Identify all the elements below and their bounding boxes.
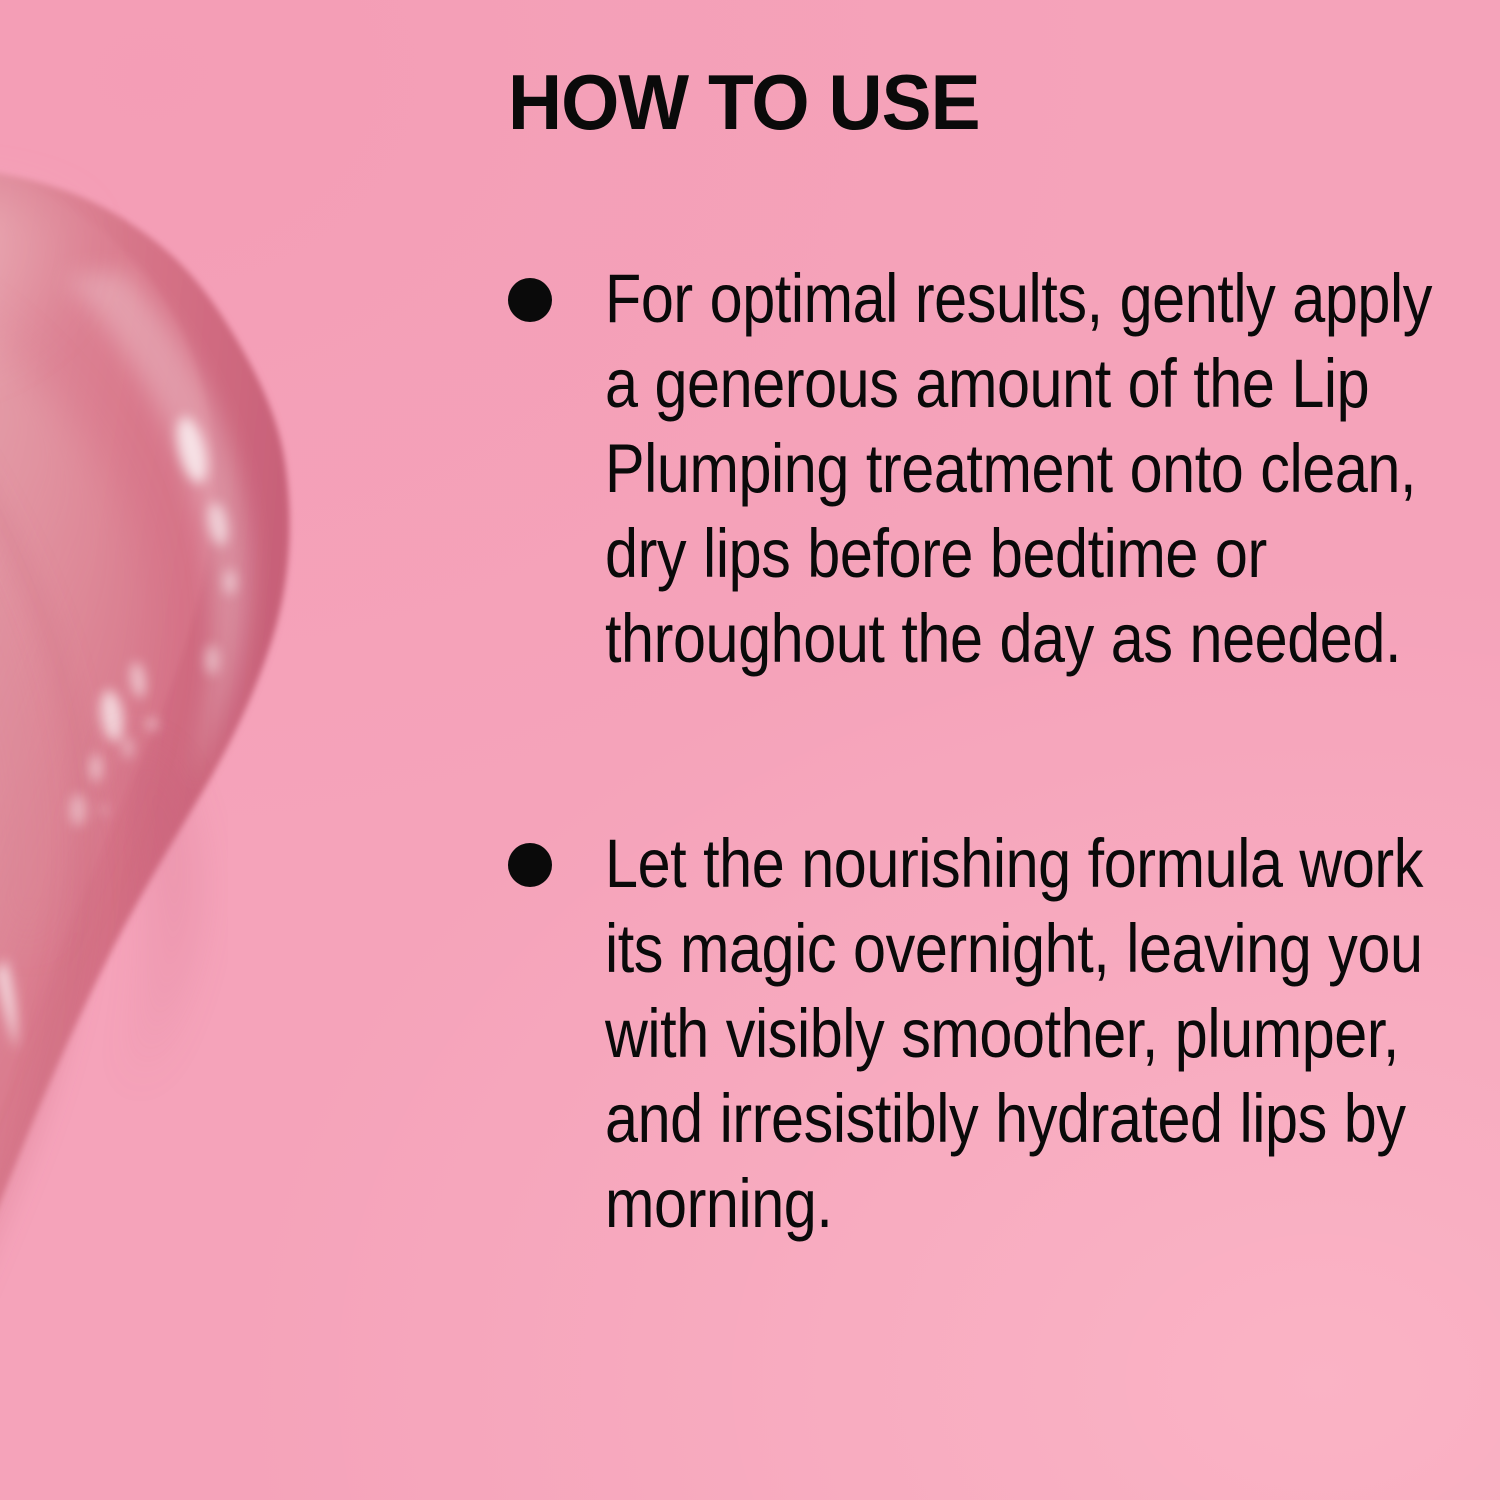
instruction-text: Let the nourishing formula work its magi… <box>605 821 1433 1246</box>
page-title: HOW TO USE <box>508 60 1398 144</box>
bullet-dot-icon <box>508 843 552 887</box>
list-item: Let the nourishing formula work its magi… <box>505 821 1435 1246</box>
lip-gloss-swatch-image <box>0 120 520 1480</box>
instructions-list: For optimal results, gently apply a gene… <box>505 256 1435 1246</box>
bullet-dot-icon <box>508 278 552 322</box>
instruction-text: For optimal results, gently apply a gene… <box>605 256 1433 681</box>
list-item: For optimal results, gently apply a gene… <box>505 256 1435 681</box>
product-how-to-use-card: HOW TO USE For optimal results, gently a… <box>0 0 1500 1500</box>
how-to-use-content: HOW TO USE For optimal results, gently a… <box>505 60 1435 1246</box>
